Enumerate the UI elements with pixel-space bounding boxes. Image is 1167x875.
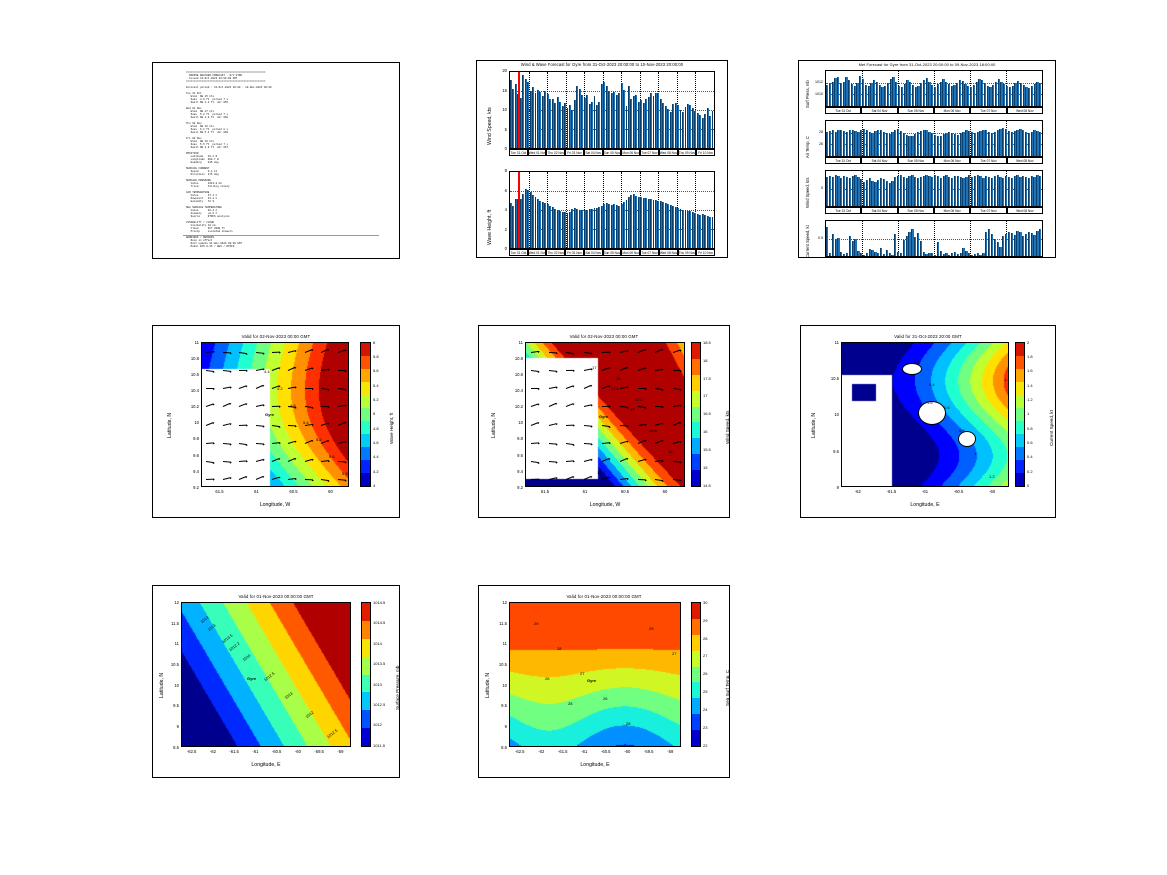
date-tick-box: Tue 07 Nov	[970, 207, 1006, 214]
y-tick-label: 11	[164, 641, 179, 646]
x-tick-label: 60	[323, 489, 339, 494]
date-tick-box: Tue 07 Nov	[970, 107, 1006, 114]
y-tick-label: 10	[496, 107, 507, 112]
date-tick-box: Mon 06 Nov	[934, 107, 970, 114]
date-tick-box: Wed 08 Nov	[1007, 207, 1043, 214]
y-tick-label: 10.5	[164, 662, 179, 667]
now-marker	[518, 72, 519, 148]
colorbar-tick: 0.2	[1027, 469, 1033, 474]
y-tick-label: 10.5	[824, 376, 839, 381]
colorbar-tick: 26	[703, 671, 707, 676]
date-tick-box: Sun 05 Nov	[898, 107, 934, 114]
y-tick-label: 10.2	[508, 404, 523, 409]
colorbar-tick: 28	[703, 636, 707, 641]
y-tick-label: 9.6	[184, 453, 199, 458]
date-tick-box: Sun 05 Nov	[898, 257, 934, 258]
x-tick-label: 61	[249, 489, 265, 494]
y-tick-label: 2	[496, 227, 507, 232]
x-tick-label: -61	[576, 749, 592, 754]
x-tick-label: 61.5	[212, 489, 228, 494]
date-tick-box: Wed 01 Nov	[528, 149, 547, 156]
date-tick-box: Tue 07 Nov	[640, 149, 659, 156]
y-tick-label: 6	[496, 188, 507, 193]
y-tick-label: 9.2	[184, 485, 199, 490]
colorbar-tick: 4	[373, 483, 375, 488]
colorbar-tick: 17	[703, 393, 707, 398]
x-tick-label: 60	[657, 489, 673, 494]
colorbar-tick: 18.5	[703, 340, 711, 345]
x-tick-label: -62	[205, 749, 221, 754]
x-tick-label: -60.5	[951, 489, 967, 494]
gyre-position-marker: Gyre	[599, 414, 608, 419]
panel-current-speed-map[interactable]: Valid for 31-Oct-2023 20:00 GMT 0.20.40.…	[800, 325, 1056, 518]
date-tick-box: Wed 08 Nov	[1007, 257, 1043, 258]
colorbar-tick: 1014.5	[373, 620, 385, 625]
colorbar-tick: 5.4	[373, 383, 379, 388]
date-tick-box: Mon 06 Nov	[934, 157, 970, 164]
date-tick-box: Wed 08 Nov	[1007, 107, 1043, 114]
date-tick-box: Thu 09 Nov	[678, 149, 697, 156]
y-tick-label: 9	[164, 724, 179, 729]
wind-speed-axes	[509, 71, 715, 149]
date-tick-box: Tue 31 Oct	[825, 107, 861, 114]
colorbar-tick: 2	[1027, 340, 1029, 345]
now-marker	[518, 172, 519, 248]
y-tick-label: 9	[824, 485, 839, 490]
colorbar-tick: 4.8	[373, 426, 379, 431]
panel-met-timeseries[interactable]: Met Forecast for Gyre from 31-Oct-2023 2…	[798, 60, 1056, 258]
pressure-map-ticks: -62.5-62-61.5-61-60.5-60-59.5-591211.511…	[153, 586, 399, 777]
y-tick-label: 10.5	[492, 662, 507, 667]
report-body: ========================================…	[186, 71, 386, 248]
wave-map-ticks: 61.56160.5601110.810.610.410.2109.89.69.…	[153, 326, 399, 517]
date-tick-box: Thu 02 Nov	[546, 249, 565, 256]
figure-grid: ========================================…	[0, 0, 1167, 875]
y-tick-label: 11	[184, 340, 199, 345]
x-tick-label: -62.5	[184, 749, 200, 754]
date-tick-box: Tue 07 Nov	[970, 157, 1006, 164]
y-tick-label: 5	[812, 186, 823, 190]
wave-height-axes	[509, 171, 715, 249]
colorbar-tick: 1.8	[1027, 354, 1033, 359]
date-tick-box: Tue 31 Oct	[509, 249, 528, 256]
y-tick-label: 9.2	[508, 485, 523, 490]
x-tick-label: -60	[619, 749, 635, 754]
y-tick-label: 15	[496, 88, 507, 93]
x-tick-label: -62	[533, 749, 549, 754]
date-tick-box: Sun 05 Nov	[898, 207, 934, 214]
colorbar-tick: 27	[703, 653, 707, 658]
y-tick-label: 11.5	[492, 621, 507, 626]
y-tick-label: 4	[496, 207, 507, 212]
y-tick-label: 10.2	[184, 404, 199, 409]
current-map-ticks: -62-61.5-61-60.5-601110.5109.59	[801, 326, 1055, 517]
date-tick-box: Tue 31 Oct	[825, 157, 861, 164]
y-tick-label: 8	[496, 168, 507, 173]
gyre-position-marker: Gyre	[587, 678, 596, 683]
x-tick-label: -61.5	[226, 749, 242, 754]
date-tick-box: Sat 04 Nov	[861, 157, 897, 164]
y-tick-label: 9.8	[508, 436, 523, 441]
y-tick-label: 10	[508, 420, 523, 425]
y-tick-label: 9	[492, 724, 507, 729]
x-tick-label: -61	[917, 489, 933, 494]
date-tick-box: Wed 08 Nov	[659, 249, 678, 256]
y-tick-label: 11	[508, 340, 523, 345]
report-divider	[183, 235, 379, 236]
x-tick-label: -60.5	[269, 749, 285, 754]
date-tick-box: Fri 10 Nov	[696, 249, 715, 256]
colorbar-tick: 1.6	[1027, 368, 1033, 373]
bar	[712, 111, 714, 148]
y-tick-label: 10	[164, 683, 179, 688]
colorbar-tick: 25	[703, 689, 707, 694]
colorbar-tick: 15	[703, 465, 707, 470]
colorbar-tick: 1014.5	[373, 600, 385, 605]
colorbar-tick: 16.5	[703, 411, 711, 416]
colorbar-tick: 24	[703, 707, 707, 712]
y-tick-label: 1012	[812, 80, 823, 84]
y-tick-label: 10.6	[508, 372, 523, 377]
y-tick-label: 26	[812, 142, 823, 146]
y-tick-label: 10.4	[184, 388, 199, 393]
y-tick-label: 9.5	[164, 703, 179, 708]
y-tick-label: 0	[496, 246, 507, 251]
date-tick-box: Sun 05 Nov	[603, 249, 622, 256]
y-tick-label: 0.5	[812, 236, 823, 240]
colorbar-tick: 14.5	[703, 483, 711, 488]
x-tick-label: -61.5	[883, 489, 899, 494]
colorbar-tick: 6	[373, 340, 375, 345]
colorbar-tick: 1013.5	[373, 661, 385, 666]
y-tick-label: 12	[492, 600, 507, 605]
colorbar-tick: 1013	[373, 682, 382, 687]
x-tick-label: 61.5	[537, 489, 553, 494]
y-tick-label: 20	[496, 68, 507, 73]
x-tick-label: -59.5	[641, 749, 657, 754]
colorbar-tick: 5.6	[373, 368, 379, 373]
y-tick-label: 9.4	[508, 469, 523, 474]
colorbar-tick: 30	[703, 600, 707, 605]
colorbar-tick: 1.2	[1027, 397, 1033, 402]
date-tick-box: Tue 07 Nov	[640, 249, 659, 256]
date-tick-box: Mon 06 Nov	[934, 257, 970, 258]
colorbar-tick: 5.8	[373, 354, 379, 359]
date-tick-box: Tue 31 Oct	[825, 207, 861, 214]
y-tick-label: 10.8	[184, 356, 199, 361]
date-tick-box: Fri 03 Nov	[565, 149, 584, 156]
wind-speed-ylabel: Wind Speed, kts	[487, 107, 493, 145]
panel-wave-height-map[interactable]: Valid for 02-Nov-2023 00:00 GMT 4.44.24.…	[152, 325, 400, 518]
wave-height-ylabel: Wave Height, ft	[487, 210, 493, 245]
x-tick-label: -59.5	[311, 749, 327, 754]
y-tick-label: 9.6	[508, 453, 523, 458]
panel-pressure-map[interactable]: Valid for 01-Nov-2023 00:00:00 GMT 10131…	[152, 585, 400, 778]
colorbar-tick: 29	[703, 618, 707, 623]
date-tick-box: Tue 07 Nov	[970, 257, 1006, 258]
date-tick-box: Thu 02 Nov	[546, 149, 565, 156]
y-tick-label: 8.5	[492, 745, 507, 750]
y-tick-label: 11.5	[164, 621, 179, 626]
colorbar-tick: 1.4	[1027, 383, 1033, 388]
met-axis-decorations: 10101012Tue 31 OctSat 04 NovSun 05 NovMo…	[799, 61, 1055, 257]
y-tick-label: 9.8	[184, 436, 199, 441]
y-tick-label: 28	[812, 130, 823, 134]
x-tick-label: -59	[662, 749, 678, 754]
sst-map-ticks: -62.5-62-61.5-61-60.5-60-59.5-591211.511…	[479, 586, 729, 777]
panel-wind-speed-map[interactable]: Valid for 02-Nov-2023 00:00 GMT 1717.517…	[478, 325, 730, 518]
y-tick-label: 10.8	[508, 356, 523, 361]
x-tick-label: -62.5	[512, 749, 528, 754]
y-tick-label: 9.5	[824, 449, 839, 454]
colorbar-tick: 23	[703, 725, 707, 730]
date-tick-box: Mon 06 Nov	[934, 207, 970, 214]
y-tick-label: 5	[496, 127, 507, 132]
x-tick-label: -60	[984, 489, 1000, 494]
y-tick-label: 11	[492, 641, 507, 646]
colorbar-tick: 0.4	[1027, 454, 1033, 459]
colorbar-tick: 1	[1027, 411, 1029, 416]
y-tick-label: 9.4	[184, 469, 199, 474]
colorbar-tick: 0.8	[1027, 426, 1033, 431]
colorbar-tick: 0	[1027, 483, 1029, 488]
x-tick-label: -60.5	[598, 749, 614, 754]
date-tick-box: Wed 08 Nov	[659, 149, 678, 156]
x-tick-label: -61.5	[555, 749, 571, 754]
colorbar-tick: 4.4	[373, 454, 379, 459]
date-tick-box: Sat 04 Nov	[584, 149, 603, 156]
gyre-position-marker: Gyre	[265, 412, 274, 417]
y-tick-label: 9.5	[492, 703, 507, 708]
gyre-position-marker: Gyre	[247, 676, 256, 681]
x-tick-label: -61	[247, 749, 263, 754]
x-tick-label: 61	[577, 489, 593, 494]
date-tick-box: Wed 01 Nov	[528, 249, 547, 256]
colorbar-tick: 5.2	[373, 397, 379, 402]
date-tick-box: Sun 05 Nov	[603, 149, 622, 156]
panel-wind-wave-timeseries[interactable]: Wind & Wave Forecast for Gyre from 31-Oc…	[476, 60, 728, 258]
colorbar-tick: 16	[703, 429, 707, 434]
grid-line	[510, 191, 714, 192]
wind-wave-title: Wind & Wave Forecast for Gyre from 31-Oc…	[477, 62, 727, 67]
date-tick-box: Mon 06 Nov	[621, 249, 640, 256]
date-tick-box: Sat 04 Nov	[861, 207, 897, 214]
date-tick-box: Tue 31 Oct	[825, 257, 861, 258]
y-tick-label: 10	[184, 420, 199, 425]
y-tick-label: 10.4	[508, 388, 523, 393]
colorbar-tick: 18	[703, 358, 707, 363]
panel-report[interactable]: ========================================…	[152, 62, 400, 259]
colorbar-tick: 22	[703, 743, 707, 748]
x-tick-label: -60	[290, 749, 306, 754]
date-tick-box: Sat 04 Nov	[861, 107, 897, 114]
x-tick-label: -59	[332, 749, 348, 754]
date-tick-box: Sat 04 Nov	[584, 249, 603, 256]
colorbar-tick: 1012.5	[373, 702, 385, 707]
date-tick-box: Fri 03 Nov	[565, 249, 584, 256]
colorbar-tick: 0.6	[1027, 440, 1033, 445]
colorbar-tick: 4.6	[373, 440, 379, 445]
y-tick-label: 10	[824, 412, 839, 417]
date-tick-box: Tue 31 Oct	[509, 149, 528, 156]
y-tick-label: 10	[492, 683, 507, 688]
panel-sst-map[interactable]: Valid for 01-Nov-2023 00:00:00 GMT 29282…	[478, 585, 730, 778]
date-tick-box: Sat 04 Nov	[861, 257, 897, 258]
y-tick-label: 8.5	[164, 745, 179, 750]
x-tick-label: 60.5	[617, 489, 633, 494]
date-tick-box: Mon 06 Nov	[621, 149, 640, 156]
colorbar-tick: 5	[373, 411, 375, 416]
y-tick-label: 10.6	[184, 372, 199, 377]
colorbar-tick: 1011.5	[373, 743, 385, 748]
y-tick-label: 1010	[812, 92, 823, 96]
colorbar-tick: 4.2	[373, 469, 379, 474]
colorbar-tick: 17.5	[703, 376, 711, 381]
bar	[712, 217, 714, 248]
colorbar-tick: 1014	[373, 641, 382, 646]
wind-map-ticks: 61.56160.5601110.810.610.410.2109.89.69.…	[479, 326, 729, 517]
date-tick-box: Wed 08 Nov	[1007, 157, 1043, 164]
date-tick-box: Thu 09 Nov	[678, 249, 697, 256]
y-tick-label: 12	[164, 600, 179, 605]
y-tick-label: 11	[824, 340, 839, 345]
colorbar-tick: 15.5	[703, 447, 711, 452]
colorbar-tick: 1012	[373, 722, 382, 727]
date-tick-box: Sun 05 Nov	[898, 157, 934, 164]
date-tick-box: Fri 10 Nov	[696, 149, 715, 156]
x-tick-label: 60.5	[286, 489, 302, 494]
y-tick-label: 0	[496, 146, 507, 151]
x-tick-label: -62	[850, 489, 866, 494]
